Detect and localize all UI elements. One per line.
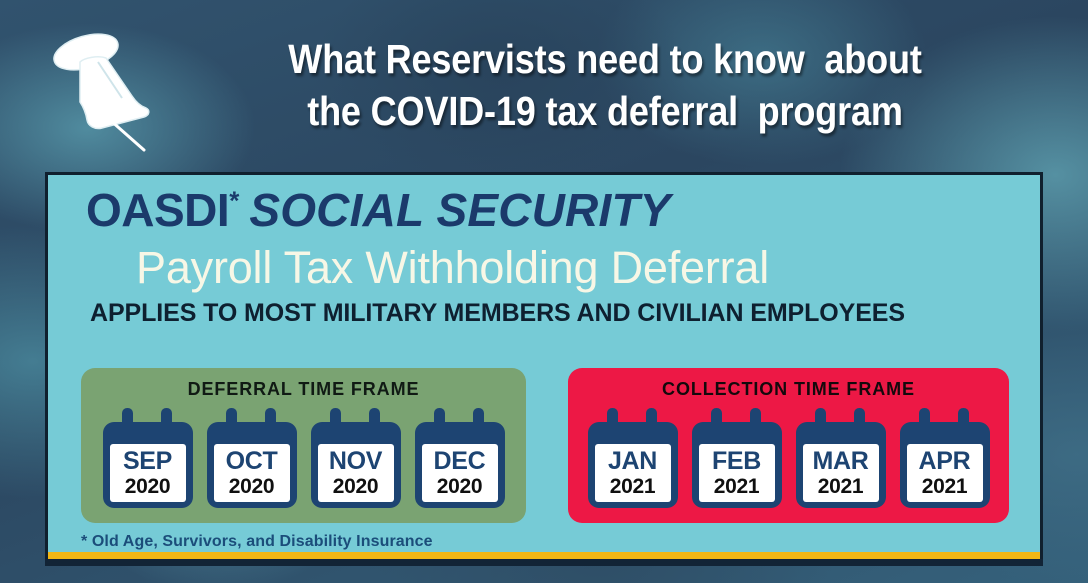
calendar-page: APR 2021 [907, 444, 983, 502]
calendar-icon: SEP 2020 [103, 408, 193, 508]
calendar-icon: DEC 2020 [415, 408, 505, 508]
calendar-year: 2020 [229, 476, 275, 497]
card-title-program: SOCIAL SECURITY [249, 184, 670, 236]
headline-line-2: the COVID-19 tax deferral program [218, 86, 992, 138]
poster-headline: What Reservists need to know about the C… [218, 34, 992, 137]
calendar-page: DEC 2020 [422, 444, 498, 502]
calendar-page: MAR 2021 [803, 444, 879, 502]
calendar-icon: NOV 2020 [311, 408, 401, 508]
card-subtitle: Payroll Tax Withholding Deferral [48, 245, 1040, 290]
deferral-panel-title: DEFERRAL TIME FRAME [81, 379, 526, 400]
collection-calendar-row: JAN 2021 FEB 2021 [568, 408, 1009, 514]
calendar-page: JAN 2021 [595, 444, 671, 502]
calendar-icon: APR 2021 [900, 408, 990, 508]
collection-panel-title: COLLECTION TIME FRAME [568, 379, 1009, 400]
calendar-month: APR [919, 449, 971, 474]
calendar-year: 2021 [922, 476, 968, 497]
calendar-page: OCT 2020 [214, 444, 290, 502]
deferral-time-frame-panel: DEFERRAL TIME FRAME SEP 2020 [81, 368, 526, 523]
calendar-icon: JAN 2021 [588, 408, 678, 508]
calendar-body: APR 2021 [900, 422, 990, 508]
calendar-year: 2021 [610, 476, 656, 497]
calendar-year: 2021 [818, 476, 864, 497]
calendar-month: NOV [329, 449, 382, 474]
poster-canvas: What Reservists need to know about the C… [0, 0, 1088, 583]
calendar-page: SEP 2020 [110, 444, 186, 502]
calendar-year: 2020 [437, 476, 483, 497]
calendar-body: MAR 2021 [796, 422, 886, 508]
info-card: OASDI*SOCIAL SECURITY Payroll Tax Withho… [45, 172, 1043, 561]
calendar-body: NOV 2020 [311, 422, 401, 508]
calendar-month: MAR [812, 449, 868, 474]
calendar-icon: FEB 2021 [692, 408, 782, 508]
calendar-page: NOV 2020 [318, 444, 394, 502]
collection-time-frame-panel: COLLECTION TIME FRAME JAN 2021 [568, 368, 1009, 523]
calendar-body: FEB 2021 [692, 422, 782, 508]
calendar-body: SEP 2020 [103, 422, 193, 508]
calendar-month: JAN [608, 449, 657, 474]
calendar-month: SEP [123, 449, 172, 474]
calendar-page: FEB 2021 [699, 444, 775, 502]
card-applies-to: APPLIES TO MOST MILITARY MEMBERS AND CIV… [48, 301, 1040, 326]
calendar-month: OCT [226, 449, 278, 474]
pushpin-icon [40, 22, 170, 152]
calendar-month: FEB [712, 449, 761, 474]
calendar-year: 2020 [333, 476, 379, 497]
card-title-asterisk: * [229, 186, 239, 216]
calendar-body: OCT 2020 [207, 422, 297, 508]
calendar-body: DEC 2020 [415, 422, 505, 508]
card-bottom-strip [45, 559, 1043, 566]
card-title: OASDI*SOCIAL SECURITY [48, 187, 1040, 233]
card-footnote: * Old Age, Survivors, and Disability Ins… [81, 533, 433, 551]
calendar-body: JAN 2021 [588, 422, 678, 508]
calendar-year: 2021 [714, 476, 760, 497]
headline-line-1: What Reservists need to know about [218, 34, 992, 86]
card-title-acronym: OASDI [86, 184, 229, 236]
calendar-month: DEC [434, 449, 486, 474]
deferral-calendar-row: SEP 2020 OCT 2020 [81, 408, 526, 514]
calendar-icon: MAR 2021 [796, 408, 886, 508]
calendar-icon: OCT 2020 [207, 408, 297, 508]
calendar-year: 2020 [125, 476, 171, 497]
card-gold-accent-strip [45, 552, 1043, 559]
